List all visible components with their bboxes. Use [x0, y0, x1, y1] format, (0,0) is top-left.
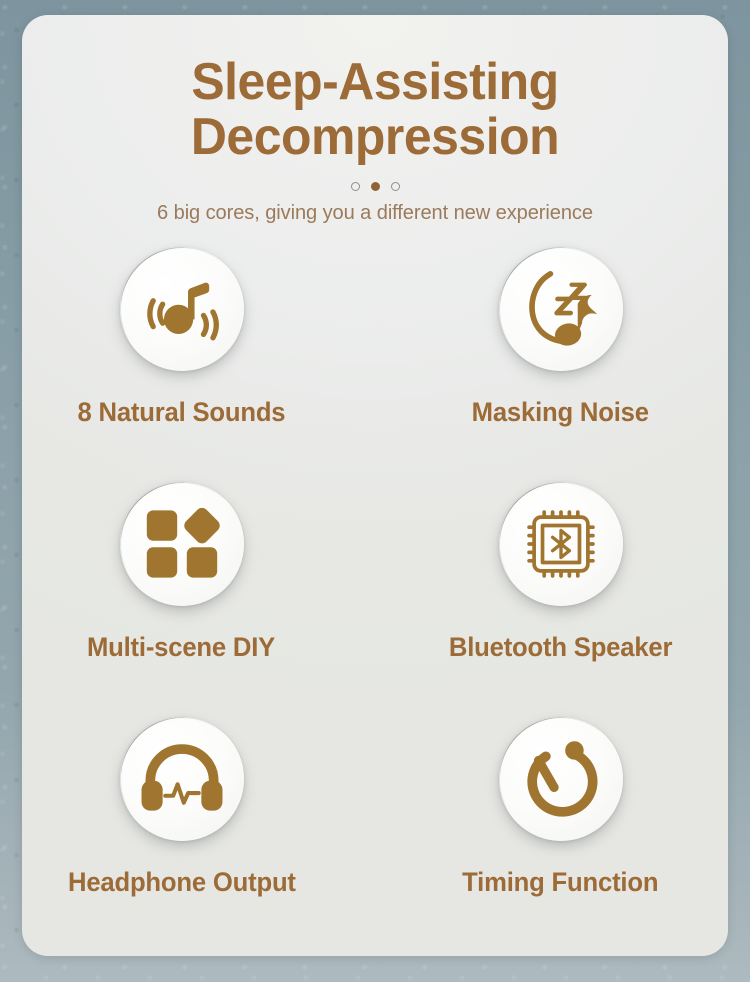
card-header: Sleep-Assisting Decompression 6 big core…: [22, 15, 728, 225]
title-line-1: Sleep-Assisting: [36, 55, 714, 110]
pagination-dot-2-active[interactable]: [371, 182, 380, 191]
feature-label: Headphone Output: [68, 867, 296, 898]
feature-item-headphone-output[interactable]: Headphone Output: [22, 717, 375, 952]
page-root: Sleep-Assisting Decompression 6 big core…: [0, 0, 750, 982]
icon-badge: [499, 482, 623, 606]
feature-card: Sleep-Assisting Decompression 6 big core…: [22, 15, 728, 956]
music-note-sound-waves-icon: [139, 266, 225, 352]
feature-label: Masking Noise: [472, 397, 649, 428]
feature-item-multi-scene-diy[interactable]: Multi-scene DIY: [22, 482, 375, 717]
page-title: Sleep-Assisting Decompression: [36, 55, 714, 165]
timer-stopwatch-icon: [519, 737, 603, 821]
feature-grid: 8 Natural Sounds: [22, 247, 728, 952]
page-subtitle: 6 big cores, giving you a different new …: [29, 201, 721, 225]
feature-label: 8 Natural Sounds: [78, 397, 286, 428]
feature-label: Multi-scene DIY: [87, 632, 275, 663]
feature-item-masking-noise[interactable]: Masking Noise: [375, 247, 728, 482]
feature-label: Timing Function: [462, 867, 658, 898]
pagination-dot-3[interactable]: [391, 182, 400, 191]
icon-badge: [120, 247, 244, 371]
feature-label: Bluetooth Speaker: [449, 632, 672, 663]
title-line-2: Decompression: [36, 110, 714, 165]
carousel-pagination[interactable]: [22, 179, 728, 193]
bluetooth-chip-icon: [519, 502, 603, 586]
icon-badge: [499, 247, 623, 371]
feature-item-bluetooth-speaker[interactable]: Bluetooth Speaker: [375, 482, 728, 717]
headphones-waveform-icon: [138, 735, 226, 823]
feature-item-timing-function[interactable]: Timing Function: [375, 717, 728, 952]
four-shapes-grid-icon: [142, 504, 222, 584]
icon-badge: [120, 482, 244, 606]
feature-item-natural-sounds[interactable]: 8 Natural Sounds: [22, 247, 375, 482]
icon-badge: [120, 717, 244, 841]
pagination-dot-1[interactable]: [351, 182, 360, 191]
moon-zzz-music-note-icon: [517, 265, 605, 353]
icon-badge: [499, 717, 623, 841]
